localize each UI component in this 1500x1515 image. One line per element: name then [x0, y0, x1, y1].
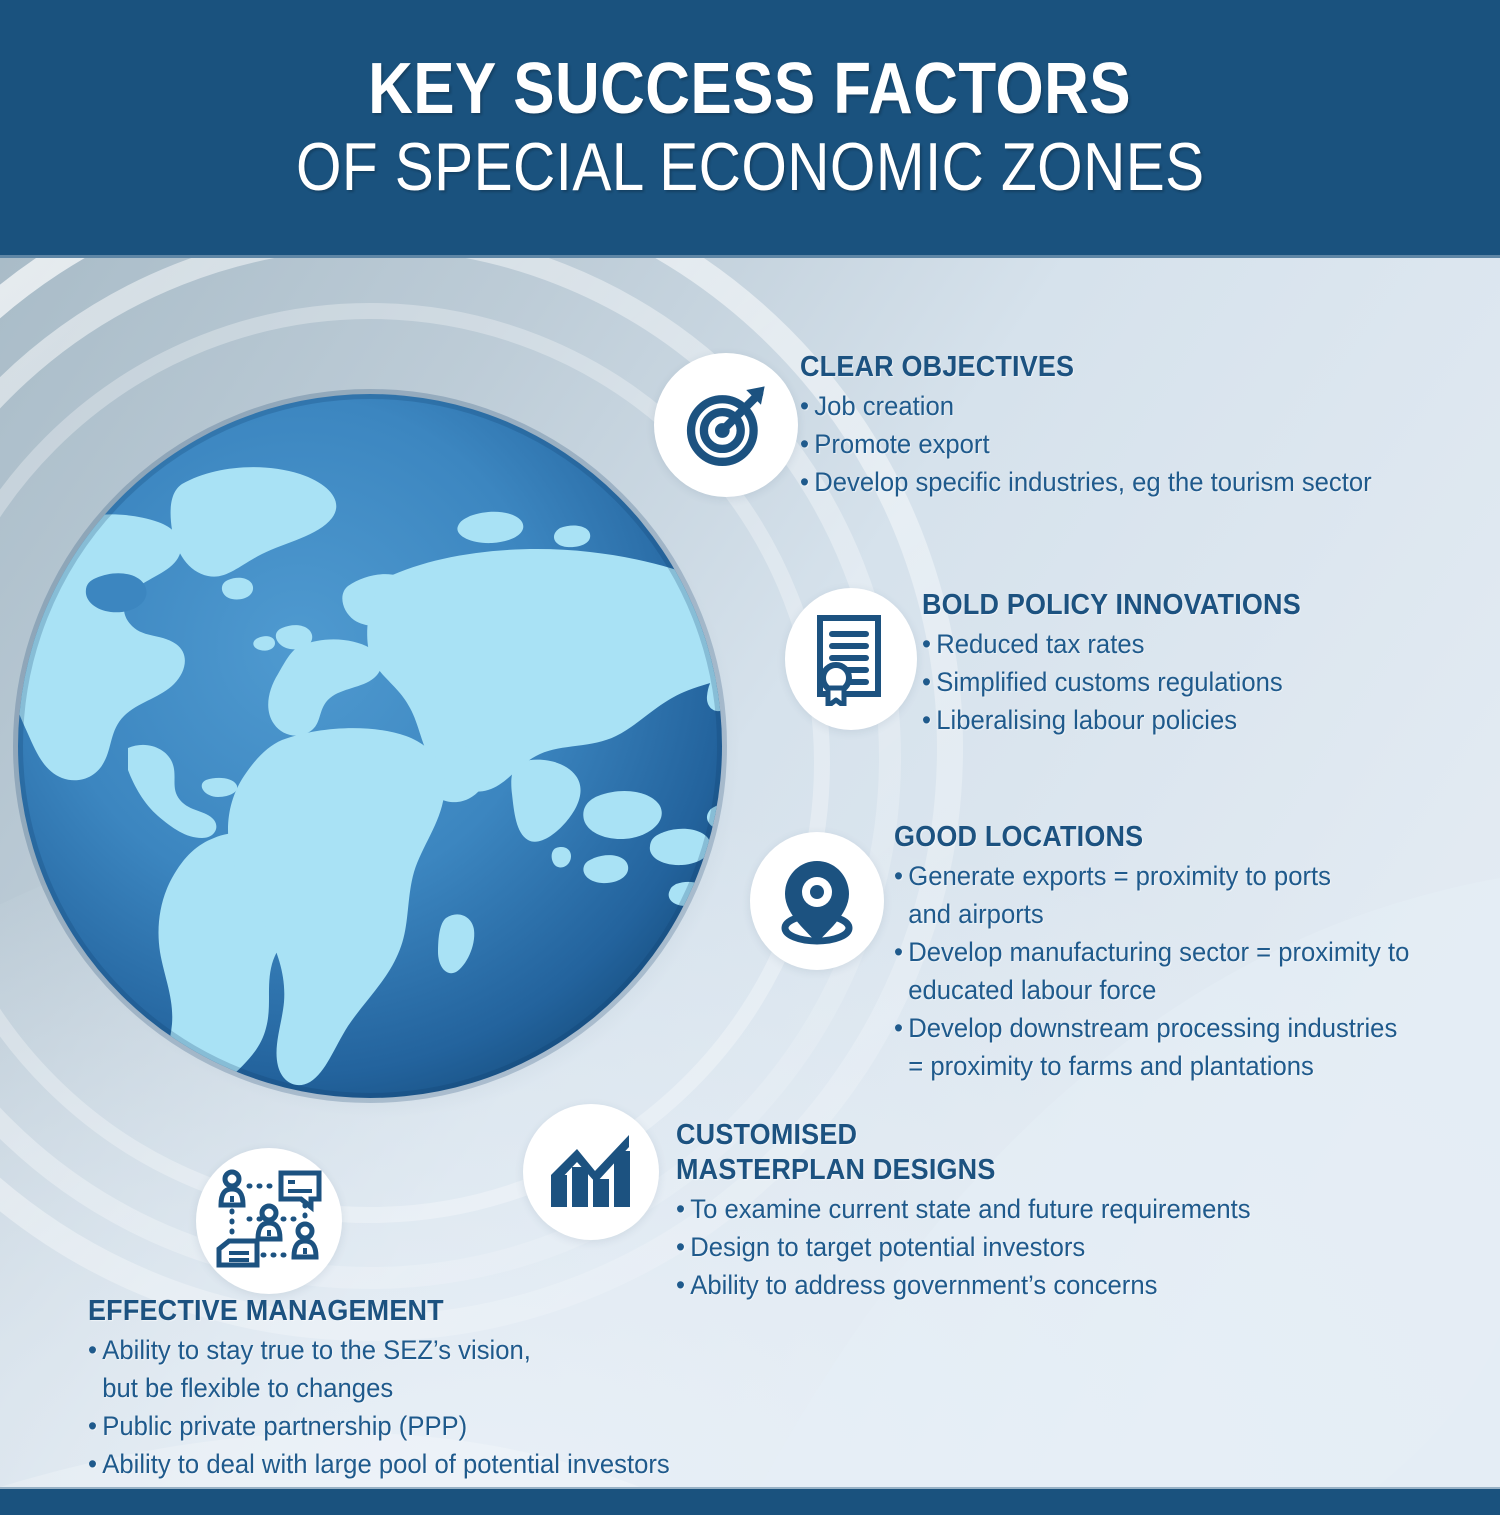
list-item-text: Job creation [814, 391, 954, 421]
certificate-icon [810, 612, 892, 706]
list-item-text: Develop specific industries, eg the tour… [814, 467, 1371, 497]
section-heading: GOOD LOCATIONS [894, 820, 1399, 855]
bullet-glyph: • [88, 1445, 102, 1483]
section-bold-policy-innovations: BOLD POLICY INNOVATIONS •Reduced tax rat… [922, 588, 1329, 739]
bullet-glyph: • [800, 387, 814, 425]
bullet-glyph: • [894, 933, 908, 971]
bullet-list: •Reduced tax rates •Simplified customs r… [922, 625, 1329, 739]
list-item: •Develop manufacturing sector = proximit… [894, 933, 1409, 971]
bullet-glyph: • [922, 701, 936, 739]
bullet-glyph: • [922, 625, 936, 663]
list-item-text: Liberalising labour policies [936, 705, 1237, 735]
list-item-text: To examine current state and future requ… [690, 1194, 1250, 1224]
list-item-text: Reduced tax rates [936, 629, 1144, 659]
list-item-text: and airports [908, 899, 1043, 929]
bullet-glyph: • [894, 1009, 908, 1047]
bullet-list: •Generate exports = proximity to ports •… [894, 857, 1437, 1085]
badge-customised-masterplan-designs [523, 1104, 659, 1240]
map-pin-icon [775, 855, 859, 947]
bullet-glyph: • [894, 857, 908, 895]
list-item-text: Ability to deal with large pool of poten… [102, 1449, 669, 1479]
list-item-text: Promote export [814, 429, 989, 459]
list-item: •Generate exports = proximity to ports [894, 857, 1409, 895]
infographic-page: KEY SUCCESS FACTORS OF SPECIAL ECONOMIC … [0, 0, 1500, 1515]
section-heading-line1: CUSTOMISED [676, 1118, 1238, 1153]
bullet-glyph: • [922, 663, 936, 701]
list-item-text: = proximity to farms and plantations [908, 1051, 1314, 1081]
bullet-list: •Job creation •Promote export •Develop s… [800, 387, 1402, 501]
page-title-line2: OF SPECIAL ECONOMIC ZONES [296, 127, 1205, 207]
bullet-list: •Ability to stay true to the SEZ’s visio… [88, 1331, 700, 1483]
list-item-text: Develop downstream processing industries [908, 1013, 1397, 1043]
list-item: •Develop downstream processing industrie… [894, 1009, 1409, 1047]
list-item: •Simplified customs regulations [922, 663, 1309, 701]
header-banner: KEY SUCCESS FACTORS OF SPECIAL ECONOMIC … [0, 0, 1500, 258]
list-item: •but be flexible to changes [88, 1369, 670, 1407]
list-item: •Ability to address government’s concern… [676, 1266, 1251, 1304]
bullet-glyph: • [676, 1190, 690, 1228]
list-item: •Reduced tax rates [922, 625, 1309, 663]
list-item: •Liberalising labour policies [922, 701, 1309, 739]
list-item-text: Ability to address government’s concerns [690, 1270, 1157, 1300]
section-heading: BOLD POLICY INNOVATIONS [922, 588, 1301, 623]
list-item: •Ability to deal with large pool of pote… [88, 1445, 670, 1483]
list-item: •educated labour force [894, 971, 1409, 1009]
bullet-glyph: • [88, 1331, 102, 1369]
section-heading: EFFECTIVE MANAGEMENT [88, 1294, 657, 1329]
list-item-text: Design to target potential investors [690, 1232, 1085, 1262]
section-customised-masterplan-designs: CUSTOMISED MASTERPLAN DESIGNS •To examin… [676, 1118, 1281, 1304]
list-item: •and airports [894, 895, 1409, 933]
network-people-icon [215, 1169, 323, 1273]
list-item: •Job creation [800, 387, 1372, 425]
section-heading-line2: MASTERPLAN DESIGNS [676, 1153, 1238, 1188]
list-item-text: Generate exports = proximity to ports [908, 861, 1331, 891]
list-item: •Design to target potential investors [676, 1228, 1251, 1266]
list-item-text: educated labour force [908, 975, 1156, 1005]
globe-illustration [0, 366, 760, 1126]
list-item: •To examine current state and future req… [676, 1190, 1251, 1228]
list-item: •Promote export [800, 425, 1372, 463]
list-item-text: but be flexible to changes [102, 1373, 393, 1403]
badge-clear-objectives [654, 353, 798, 497]
footer-bar [0, 1487, 1500, 1515]
badge-effective-management [196, 1148, 342, 1294]
list-item-text: Public private partnership (PPP) [102, 1411, 467, 1441]
list-item: •Develop specific industries, eg the tou… [800, 463, 1372, 501]
list-item: •Public private partnership (PPP) [88, 1407, 670, 1445]
bullet-glyph: • [800, 463, 814, 501]
badge-bold-policy-innovations [785, 588, 917, 730]
page-title-line1: KEY SUCCESS FACTORS [369, 51, 1132, 127]
badge-good-locations [750, 832, 884, 970]
list-item-text: Simplified customs regulations [936, 667, 1282, 697]
list-item: •= proximity to farms and plantations [894, 1047, 1409, 1085]
bullet-glyph: • [676, 1228, 690, 1266]
bullet-list: •To examine current state and future req… [676, 1190, 1281, 1304]
list-item-text: Develop manufacturing sector = proximity… [908, 937, 1409, 967]
section-good-locations: GOOD LOCATIONS •Generate exports = proxi… [894, 820, 1437, 1085]
section-heading: CLEAR OBJECTIVES [800, 350, 1360, 385]
section-clear-objectives: CLEAR OBJECTIVES •Job creation •Promote … [800, 350, 1402, 501]
bullet-glyph: • [88, 1407, 102, 1445]
target-icon [680, 379, 772, 471]
list-item-text: Ability to stay true to the SEZ’s vision… [102, 1335, 531, 1365]
bar-chart-growth-icon [547, 1131, 635, 1213]
list-item: •Ability to stay true to the SEZ’s visio… [88, 1331, 670, 1369]
bullet-glyph: • [800, 425, 814, 463]
section-effective-management: EFFECTIVE MANAGEMENT •Ability to stay tr… [88, 1294, 700, 1483]
